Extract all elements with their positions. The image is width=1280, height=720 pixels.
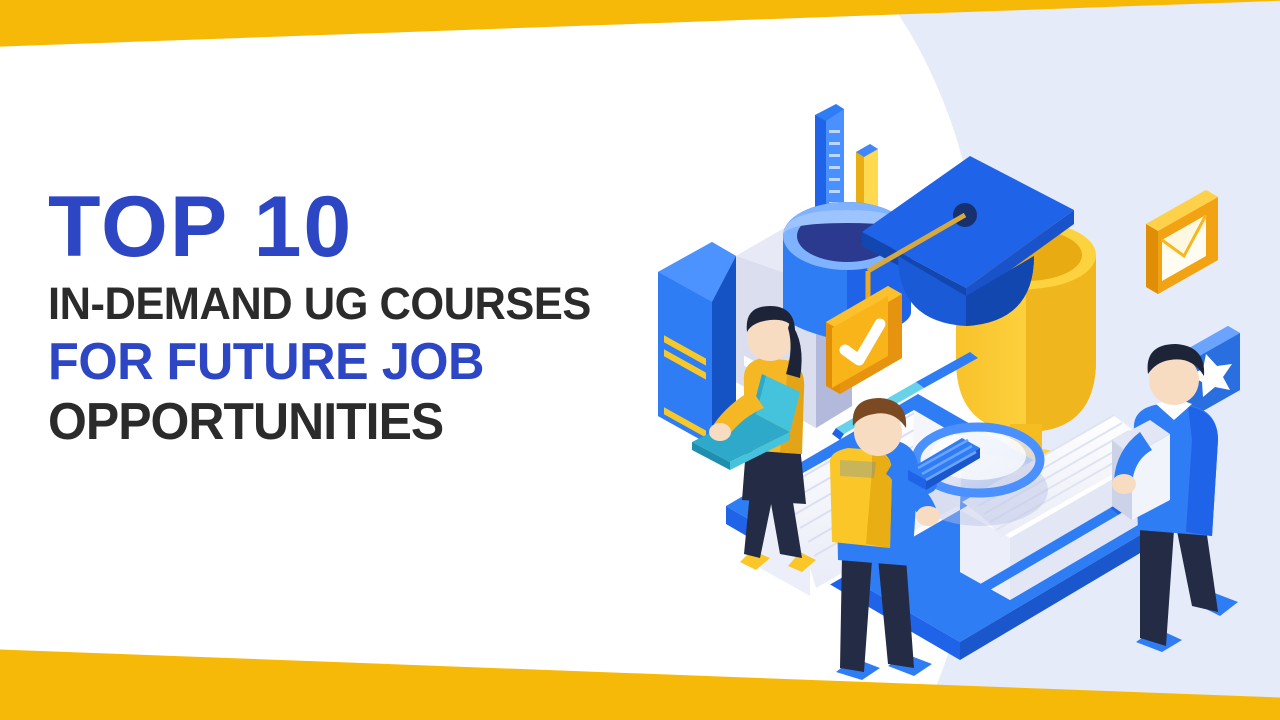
headline-line-1: TOP 10 — [48, 186, 648, 269]
banner-root: TOP 10 IN-DEMAND UG COURSES FOR FUTURE J… — [0, 0, 1280, 720]
headline-line-3: FOR FUTURE JOB — [48, 336, 630, 388]
headline-line-4: OPPORTUNITIES — [48, 396, 624, 448]
envelope-card — [1146, 190, 1218, 294]
isometric-education-illustration — [640, 60, 1280, 680]
page-title: TOP 10 IN-DEMAND UG COURSES FOR FUTURE J… — [48, 186, 648, 448]
headline-line-2: IN-DEMAND UG COURSES — [48, 281, 627, 326]
